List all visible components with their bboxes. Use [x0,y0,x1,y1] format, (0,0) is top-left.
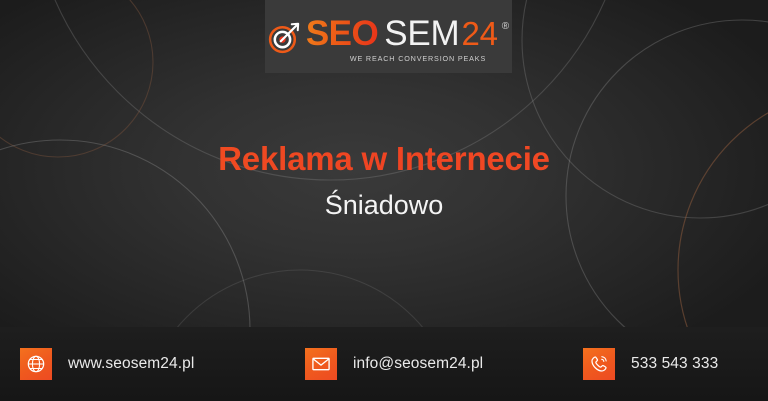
contact-phone[interactable]: 533 543 333 [583,348,718,380]
promotional-banner: SEO SEM 24 ® WE REACH CONVERSION PEAKS R… [0,0,768,401]
page-title: Reklama w Internecie [0,140,768,178]
brand-logo[interactable]: SEO SEM 24 ® WE REACH CONVERSION PEAKS [265,0,512,73]
contact-footer: www.seosem24.pl info@seosem24.pl 533 543… [0,327,768,401]
contact-website[interactable]: www.seosem24.pl [20,348,194,380]
phone-label: 533 543 333 [631,355,718,373]
brand-tagline: WE REACH CONVERSION PEAKS [350,54,509,63]
envelope-icon [305,348,337,380]
phone-ringing-icon [583,348,615,380]
registered-trademark-icon: ® [502,22,509,32]
page-subtitle: Śniadowo [0,190,768,221]
hero-section: Reklama w Internecie Śniadowo [0,140,768,221]
contact-email[interactable]: info@seosem24.pl [305,348,483,380]
target-arrow-icon [268,20,302,54]
logo-text-seo: SEO [306,16,378,51]
globe-icon [20,348,52,380]
logo-text-sem: SEM [384,16,459,51]
email-label: info@seosem24.pl [353,355,483,373]
logo-text-24: 24 [461,17,497,50]
website-label: www.seosem24.pl [68,355,194,373]
